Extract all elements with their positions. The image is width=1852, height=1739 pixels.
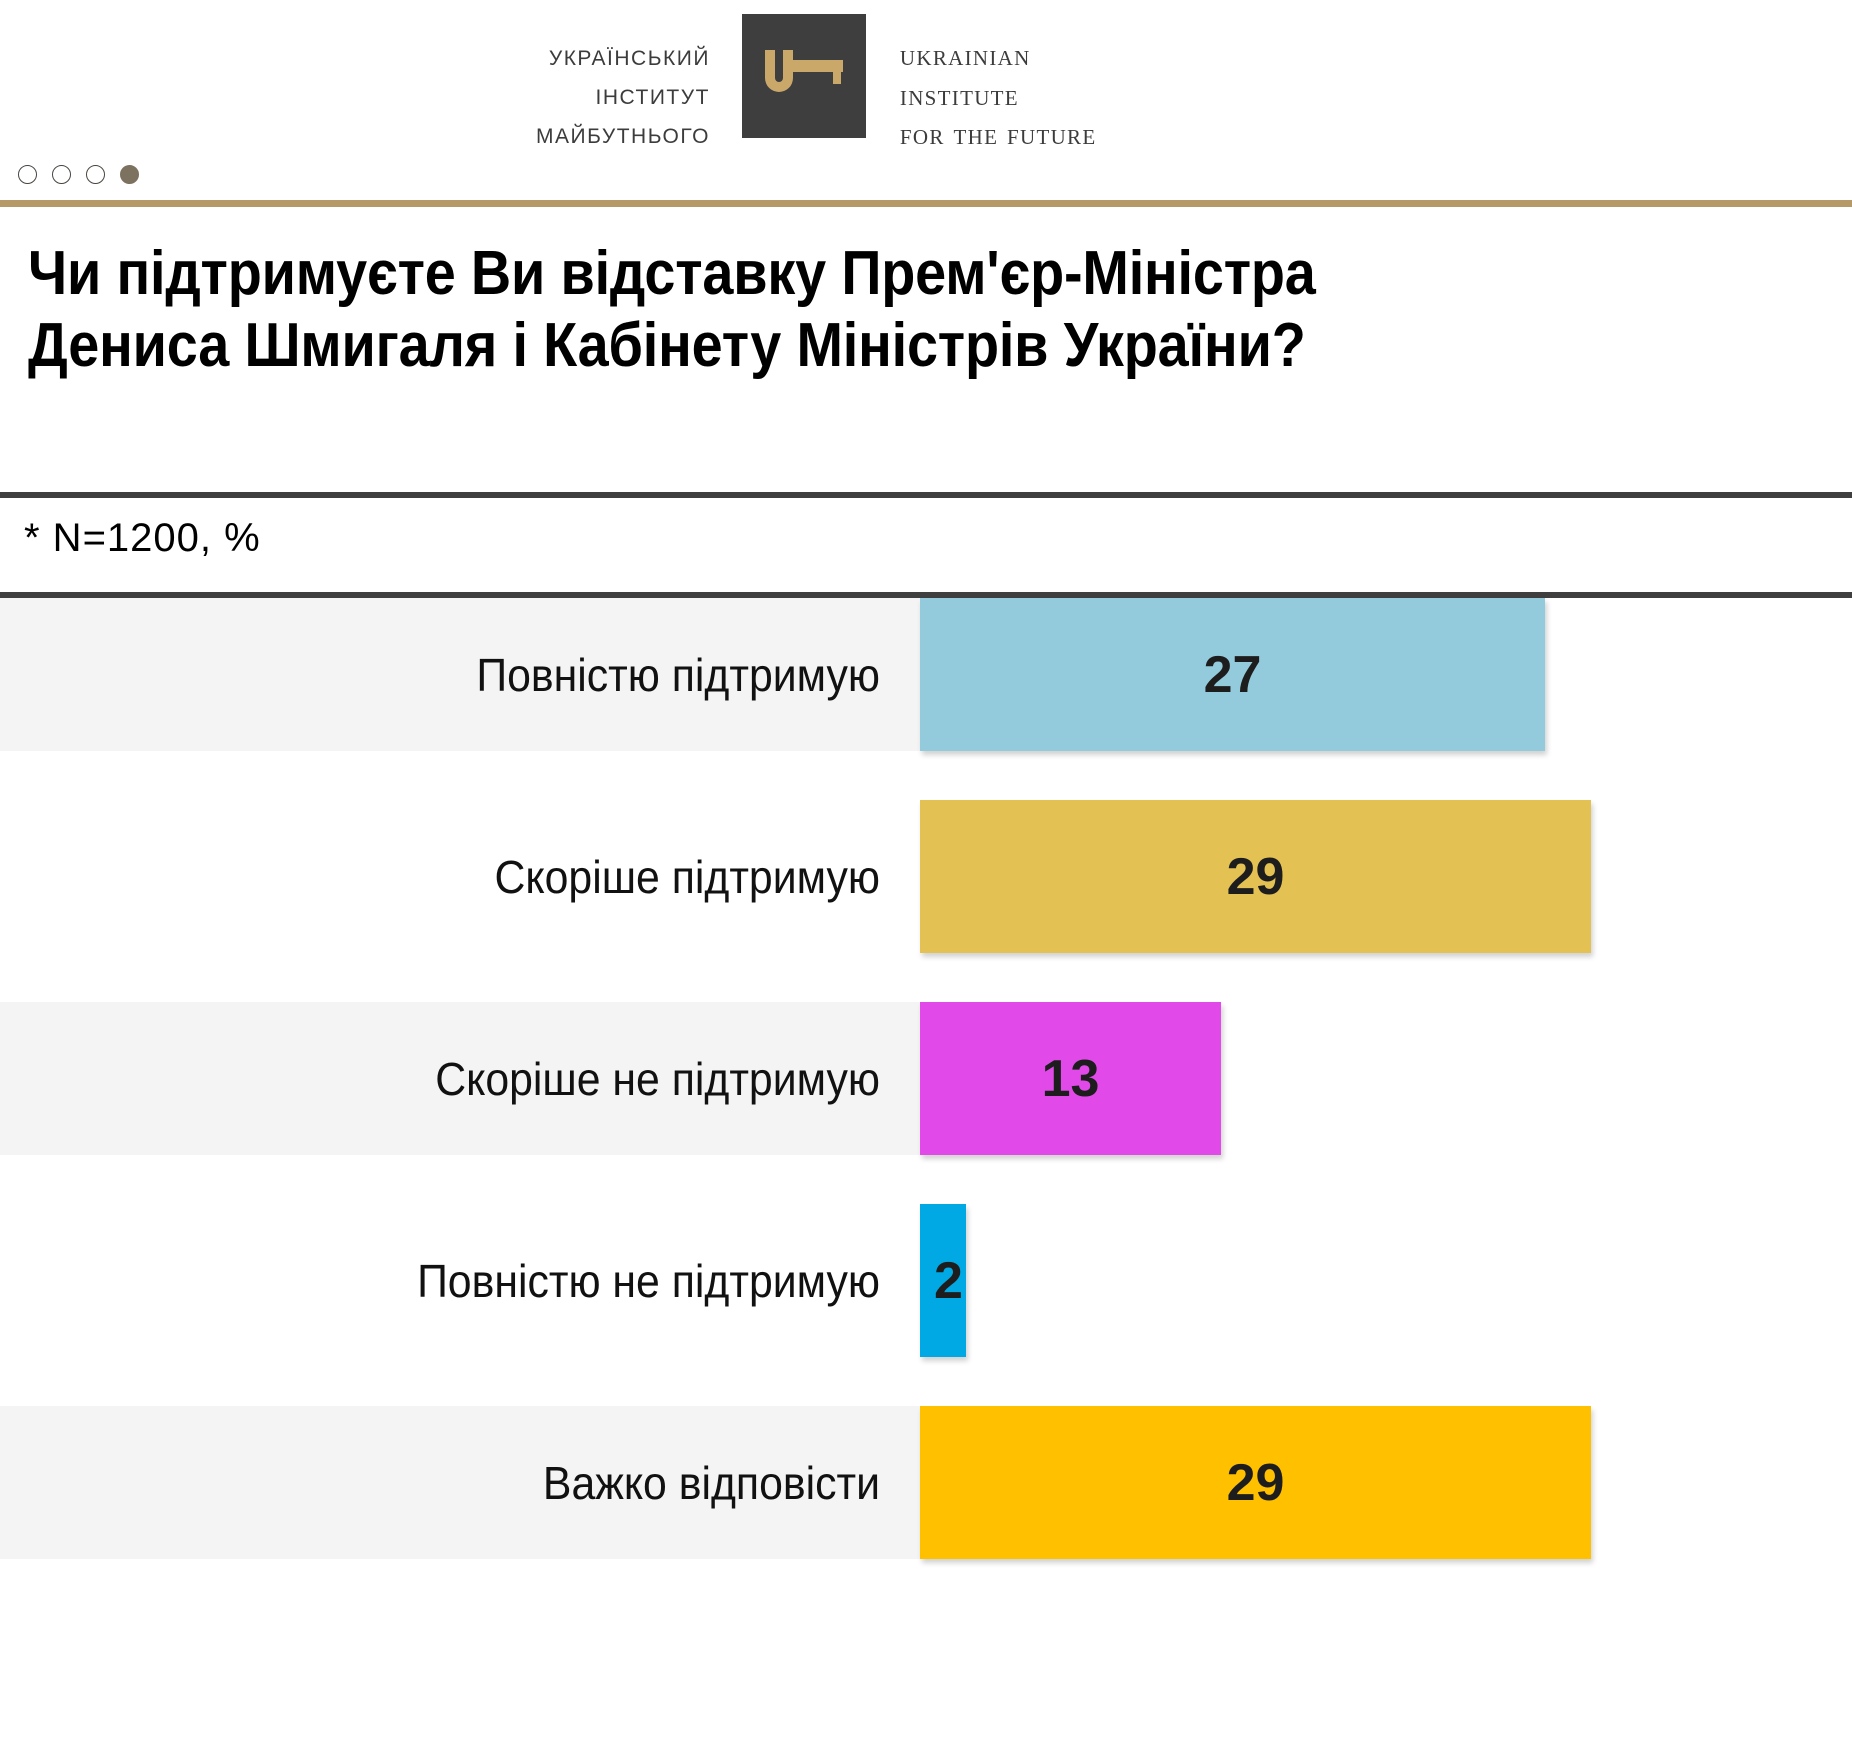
bar-label: Повністю підтримую [62,598,880,751]
bar-value: 27 [1204,645,1262,705]
bar-segment: 2 [920,1204,966,1357]
logo-ukrainian-text: Український Інститут Майбутнього [536,14,742,153]
pagination-dot-1[interactable] [18,165,37,184]
bar-value: 13 [1042,1049,1100,1109]
chart-row: Повністю підтримую 27 [0,598,1852,751]
logo-ua-line-2: Інститут [536,75,710,114]
bar-segment: 29 [920,1406,1591,1559]
logo-header: Український Інститут Майбутнього Ukraini… [0,0,1852,170]
chart-row: Важко відповісти 29 [0,1406,1852,1559]
bar-value: 29 [1227,847,1285,907]
logo-en-line-1: Ukrainian [900,36,1097,76]
bar-label: Скоріше підтримую [62,800,880,953]
page-title-line-1: Чи підтримуєте Ви відставку Прем'єр-Міні… [28,238,1648,310]
bar-segment: 29 [920,800,1591,953]
brand-logo: Український Інститут Майбутнього Ukraini… [536,14,1096,155]
logo-ua-line-1: Український [536,36,710,75]
bar-segment: 27 [920,598,1545,751]
logo-english-text: Ukrainian Institute for the Future [866,14,1097,155]
key-icon [761,48,847,104]
page-title: Чи підтримуєте Ви відставку Прем'єр-Міні… [28,238,1648,382]
bar-value: 2 [934,1251,963,1311]
logo-mark [742,14,866,138]
bar-label: Повністю не підтримую [62,1204,880,1357]
page-title-line-2: Дениса Шмигаля і Кабінету Міністрів Укра… [28,310,1648,382]
pagination-dots[interactable] [18,165,139,184]
bar-label: Скоріше не підтримую [62,1002,880,1155]
logo-ua-line-3: Майбутнього [536,114,710,153]
bar-value: 29 [1227,1453,1285,1513]
chart-row: Скоріше не підтримую 13 [0,1002,1852,1155]
bar-chart: Повністю підтримую 27 Скоріше підтримую … [0,598,1852,1739]
sample-size-note: * N=1200, % [24,516,261,561]
gold-divider [0,200,1852,207]
bar-segment: 13 [920,1002,1221,1155]
logo-en-line-2: Institute [900,76,1097,116]
chart-row: Скоріше підтримую 29 [0,800,1852,953]
pagination-dot-4[interactable] [120,165,139,184]
bar-label: Важко відповісти [62,1406,880,1559]
logo-en-line-3: for the Future [900,115,1097,155]
chart-row: Повністю не підтримую 2 [0,1204,1852,1357]
subtitle-top-divider [0,492,1852,498]
pagination-dot-2[interactable] [52,165,71,184]
pagination-dot-3[interactable] [86,165,105,184]
